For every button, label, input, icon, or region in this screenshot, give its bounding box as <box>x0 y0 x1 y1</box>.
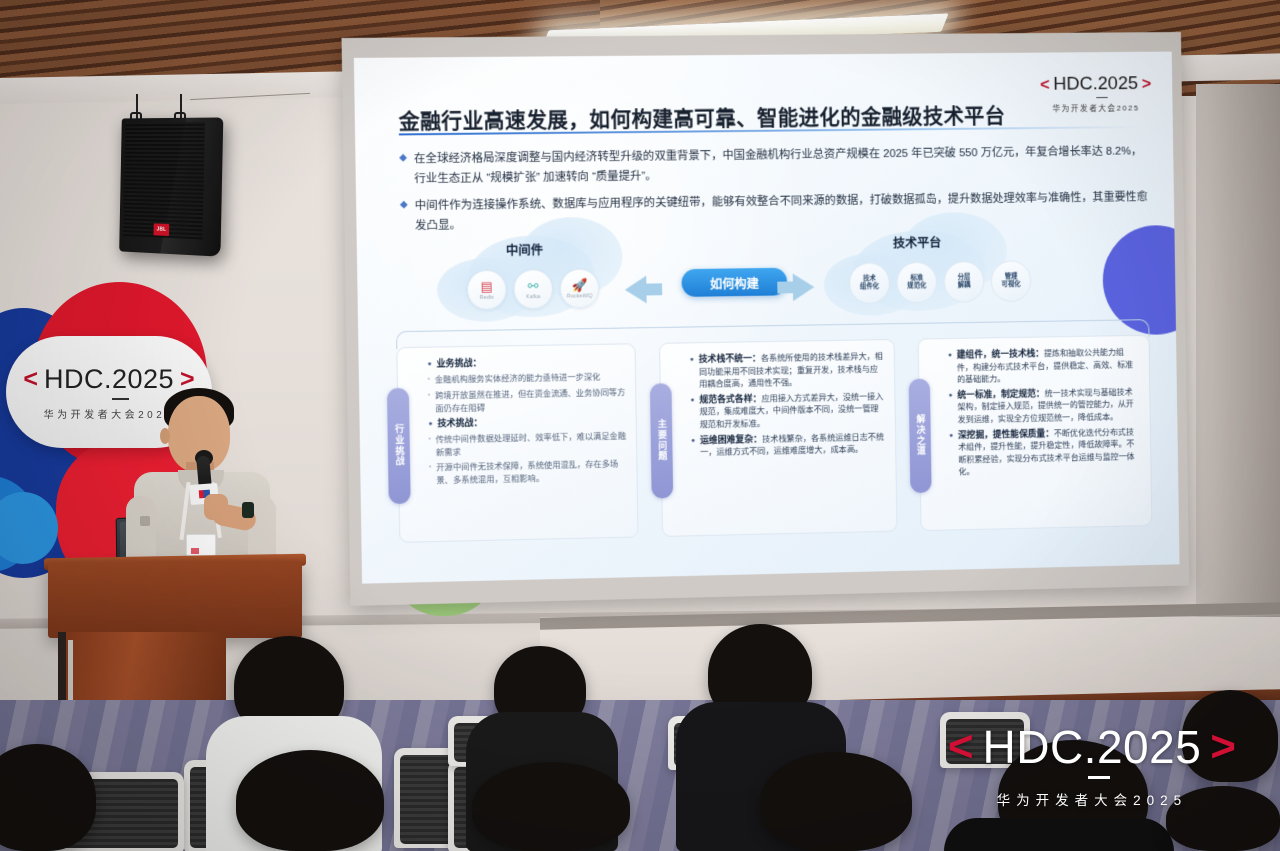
jbl-logo-icon <box>154 223 170 236</box>
speaker-grille <box>123 122 205 240</box>
chevron-right-icon: > <box>1142 74 1152 94</box>
bullet-marker-icon: ▪ <box>428 390 431 415</box>
diagram-label-middleware: 中间件 <box>506 239 543 258</box>
list-item-text: 规范各式各样：应用接入方式差异大，没统一接入规范，集成难度大，中间件版本不同，没… <box>699 390 885 431</box>
platform-chip-line2: 解耦 <box>958 282 971 290</box>
list-item: ●建组件，统一技术栈：提炼和抽取公共能力组件，构建分布式技术平台，提供稳定、高效… <box>948 346 1140 386</box>
right-arrow-icon <box>793 273 815 301</box>
platform-chip-line2: 可视化 <box>1002 281 1021 290</box>
bullet-marker-icon: ● <box>949 429 954 479</box>
list-item-text: 运维困难复杂：技术栈繁杂，各系统运维日志不统一，运维方式不同，运维难度增大，成本… <box>700 430 886 458</box>
rocketmq-glyph: 🚀 <box>571 278 587 291</box>
list-item: ▪金融机构服务实体经济的能力亟待进一步深化 <box>428 370 626 386</box>
slide-diagram: 中间件 技术平台 ▤ Redis ⚯ Kafka 🚀 RocketMQ <box>391 225 1157 570</box>
bullet-marker-icon: ● <box>428 418 432 431</box>
bullet-marker-icon: ● <box>948 389 953 426</box>
audience-head <box>472 762 630 851</box>
middleware-chip-row: ▤ Redis ⚯ Kafka 🚀 RocketMQ <box>467 268 600 310</box>
list-item: ▪跨境开放虽然在推进，但在资金流通、业务协同等方面仍存在阻碍 <box>428 386 626 415</box>
rocketmq-icon: 🚀 RocketMQ <box>560 268 600 308</box>
list-item: ●技术栈不统一：各系统所使用的技术栈差异大，相同功能采用不同技术实现；重复开发，… <box>690 350 885 391</box>
bullet-dot-icon: ◆ <box>400 196 408 236</box>
diagram-label-platform: 技术平台 <box>893 232 942 251</box>
card-tab-label: 主要问题 <box>650 383 673 498</box>
platform-chip: 管理 可视化 <box>991 260 1032 302</box>
list-item-text: 开源中间件无技术保障，系统使用混乱，存在多场景、多系统混用，互相影响。 <box>436 458 627 487</box>
slide-hdc-brand: HDC.2025 <box>1053 73 1138 95</box>
redis-icon: ▤ Redis <box>467 270 507 310</box>
wall-mounted-speaker <box>119 117 223 256</box>
bullet-marker-icon: ▪ <box>428 374 430 387</box>
slide-hdc-subtitle: 华为开发者大会2025 <box>1040 102 1151 114</box>
platform-chip-line2: 规范化 <box>907 282 926 291</box>
venue-hdc-sign-row: < HDC.2025 > <box>23 364 194 395</box>
platform-chip-line2: 组件化 <box>860 283 879 292</box>
kafka-icon: ⚯ Kafka <box>513 269 553 309</box>
chevron-left-icon: < <box>1040 75 1050 95</box>
list-item: ●深挖掘，提性能保质量：不断优化迭代分布式技术组件，提升性能，提升稳定性，降低故… <box>949 425 1141 478</box>
card-main-problems: 主要问题 ●技术栈不统一：各系统所使用的技术栈差异大，相同功能采用不同技术实现；… <box>659 339 897 537</box>
slide-hdc-logo: < HDC.2025 > 华为开发者大会2025 <box>1040 73 1152 114</box>
slide-bullet-item: ◆ 在全球经济格局深度调整与国内经济转型升级的双重背景下，中国金融机构行业总资产… <box>399 142 1151 190</box>
bullet-marker-icon: ● <box>948 349 953 386</box>
slide-hdc-logo-row: < HDC.2025 > <box>1040 73 1152 95</box>
list-item-text: 跨境开放虽然在推进，但在资金流通、业务协同等方面仍存在阻碍 <box>435 386 626 415</box>
card-solutions: 解决之道 ●建组件，统一技术栈：提炼和抽取公共能力组件，构建分布式技术平台，提供… <box>918 335 1153 531</box>
conference-room-photo: < HDC.2025 > 华为开发者大会2025 < HDC.2025 > 华为… <box>0 0 1280 851</box>
list-item: ●统一标准，制定规范：统一技术实现与基础技术架构，制定接入规范，提供统一的管控能… <box>948 385 1140 426</box>
list-item: ●业务挑战： <box>427 354 625 370</box>
list-item-text: 统一标准，制定规范：统一技术实现与基础技术架构，制定接入规范，提供统一的管控能力… <box>957 385 1140 425</box>
platform-chip: 技术 组件化 <box>849 262 890 304</box>
chevron-left-icon: < <box>23 367 38 392</box>
podium <box>48 562 302 638</box>
platform-chip: 标准 规范化 <box>896 262 937 304</box>
list-item-text: 传统中间件数据处理延时、效率低下，难以满足金融新需求 <box>436 430 627 459</box>
audience-torso <box>944 818 1174 851</box>
rocketmq-label: RocketMQ <box>567 293 593 299</box>
list-item: ●规范各式各样：应用接入方式差异大，没统一接入规范，集成难度大，中间件版本不同，… <box>690 390 885 431</box>
list-item: ▪开源中间件无技术保障，系统使用混乱，存在多场景、多系统混用，互相影响。 <box>429 458 627 487</box>
platform-chip-line1: 标准 <box>910 274 923 282</box>
card-tab-label: 解决之道 <box>909 379 932 493</box>
hdc-watermark-row: < HDC.2025 > <box>948 724 1236 770</box>
kafka-label: Kafka <box>526 294 540 300</box>
list-item: ●技术挑战： <box>428 414 626 431</box>
bullet-dot-icon: ◆ <box>399 149 407 189</box>
card-tab-text: 主要问题 <box>654 419 668 462</box>
audience-head <box>236 750 384 851</box>
presentation-slide: < HDC.2025 > 华为开发者大会2025 金融行业高速发展，如何构建高可… <box>354 52 1180 584</box>
list-item: ▪传统中间件数据处理延时、效率低下，难以满足金融新需求 <box>428 430 626 459</box>
platform-chip-line1: 管理 <box>1005 273 1018 281</box>
venue-hdc-sign-subtitle: 华为开发者大会2025 <box>44 406 175 421</box>
bullet-marker-icon: ▪ <box>428 434 431 459</box>
presenter-badge <box>186 534 216 556</box>
card-tab-label: 行业挑战 <box>387 388 411 504</box>
list-item-heading: 技术挑战： <box>437 417 482 431</box>
list-item-text: 技术栈不统一：各系统所使用的技术栈差异大，相同功能采用不同技术实现；重复开发，技… <box>699 350 885 390</box>
platform-chip-row: 技术 组件化 标准 规范化 分层 解耦 管理 可视化 <box>849 260 1032 304</box>
bullet-marker-icon: ● <box>691 434 696 459</box>
platform-chip-line1: 分层 <box>958 274 971 282</box>
hdc-watermark-subtitle: 华为开发者大会2025 <box>948 789 1236 809</box>
hdc-watermark-brand: HDC.2025 <box>983 724 1202 770</box>
audience-head <box>760 752 912 851</box>
redis-label: Redis <box>480 294 494 300</box>
slide-bullet-text: 在全球经济格局深度调整与国内经济转型升级的双重背景下，中国金融机构行业总资产规模… <box>414 142 1151 190</box>
wall-column-right <box>1196 84 1280 644</box>
presenter-ear <box>160 428 170 444</box>
card-industry-challenges: 行业挑战 ●业务挑战： ▪金融机构服务实体经济的能力亟待进一步深化 ▪跨境开放虽… <box>396 343 638 543</box>
hdc-watermark: < HDC.2025 > 华为开发者大会2025 <box>948 724 1236 809</box>
how-to-build-pill: 如何构建 <box>681 268 787 297</box>
bullet-marker-icon: ● <box>690 393 695 430</box>
bullet-marker-icon: ▪ <box>429 462 432 487</box>
slide-card-row: 行业挑战 ●业务挑战： ▪金融机构服务实体经济的能力亟待进一步深化 ▪跨境开放虽… <box>396 335 1152 543</box>
presenter-watch <box>242 502 254 518</box>
platform-chip: 分层 解耦 <box>943 261 984 303</box>
projection-screen: < HDC.2025 > 华为开发者大会2025 金融行业高速发展，如何构建高可… <box>342 32 1190 606</box>
list-item-text: 深挖掘，提性能保质量：不断优化迭代分布式技术组件，提升性能，提升稳定性，降低故障… <box>958 425 1141 478</box>
card-tab-text: 解决之道 <box>913 414 927 457</box>
list-item-heading: 业务挑战： <box>436 357 481 371</box>
list-item-text: 建组件，统一技术栈：提炼和抽取公共能力组件，构建分布式技术平台，提供稳定、高效、… <box>957 346 1140 386</box>
card-tab-text: 行业挑战 <box>392 424 407 467</box>
bullet-marker-icon: ● <box>690 353 695 390</box>
kafka-glyph: ⚯ <box>528 279 539 292</box>
list-item-text: 金融机构服务实体经济的能力亟待进一步深化 <box>435 371 601 387</box>
redis-glyph: ▤ <box>481 279 493 292</box>
presenter-shirt-logo <box>140 516 150 526</box>
chevron-left-icon: < <box>948 725 974 769</box>
platform-chip-line1: 技术 <box>863 275 876 283</box>
bullet-marker-icon: ● <box>427 358 431 371</box>
chevron-right-icon: > <box>1210 725 1236 769</box>
left-arrow-icon <box>625 276 647 304</box>
venue-hdc-sign-brand: HDC.2025 <box>44 364 174 395</box>
list-item: ●运维困难复杂：技术栈繁杂，各系统运维日志不统一，运维方式不同，运维难度增大，成… <box>691 430 886 459</box>
presenter-hand <box>204 494 228 520</box>
